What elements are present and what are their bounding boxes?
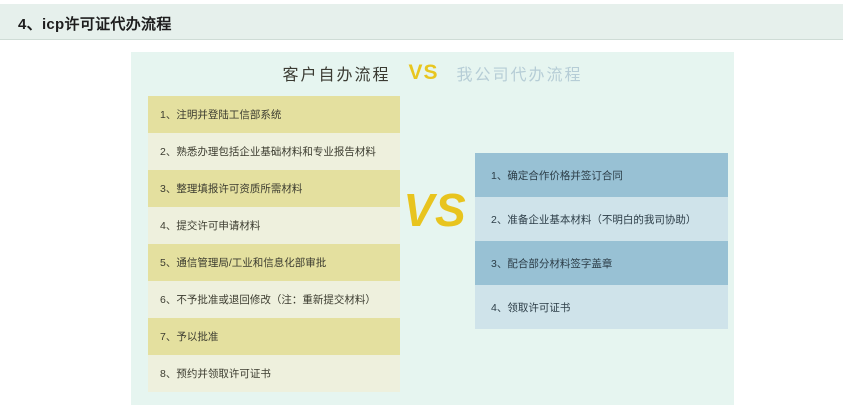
page-title: 4、icp许可证代办流程 (18, 13, 172, 34)
customer-process-heading: 客户自办流程 (282, 61, 390, 85)
agency-process-column: 1、确定合作价格并签订合同 2、准备企业基本材料（不明白的我司协助） 3、配合部… (475, 153, 728, 329)
section-header-band: 4、icp许可证代办流程 (0, 4, 843, 40)
agency-step-row: 1、确定合作价格并签订合同 (475, 153, 728, 197)
agency-step-row: 2、准备企业基本材料（不明白的我司协助） (475, 197, 728, 241)
flow-heading: 客户自办流程 VS 我公司代办流程 (131, 58, 734, 88)
customer-step-row: 7、予以批准 (148, 318, 400, 355)
customer-step-row: 5、通信管理局/工业和信息化部审批 (148, 244, 400, 281)
customer-process-column: 1、注明并登陆工信部系统 2、熟悉办理包括企业基础材料和专业报告材料 3、整理填… (148, 96, 400, 392)
flow-comparison-panel: 客户自办流程 VS 我公司代办流程 1、注明并登陆工信部系统 2、熟悉办理包括企… (131, 52, 734, 405)
customer-step-row: 4、提交许可申请材料 (148, 207, 400, 244)
heading-vs-label: VS (408, 61, 438, 85)
agency-process-heading: 我公司代办流程 (457, 61, 583, 85)
customer-step-row: 6、不予批准或退回修改（注：重新提交材料） (148, 281, 400, 318)
customer-step-row: 8、预约并领取许可证书 (148, 355, 400, 392)
agency-step-row: 3、配合部分材料签字盖章 (475, 241, 728, 285)
customer-step-row: 2、熟悉办理包括企业基础材料和专业报告材料 (148, 133, 400, 170)
agency-step-row: 4、领取许可证书 (475, 285, 728, 329)
center-vs-label: VS (393, 187, 477, 233)
customer-step-row: 1、注明并登陆工信部系统 (148, 96, 400, 133)
customer-step-row: 3、整理填报许可资质所需材料 (148, 170, 400, 207)
